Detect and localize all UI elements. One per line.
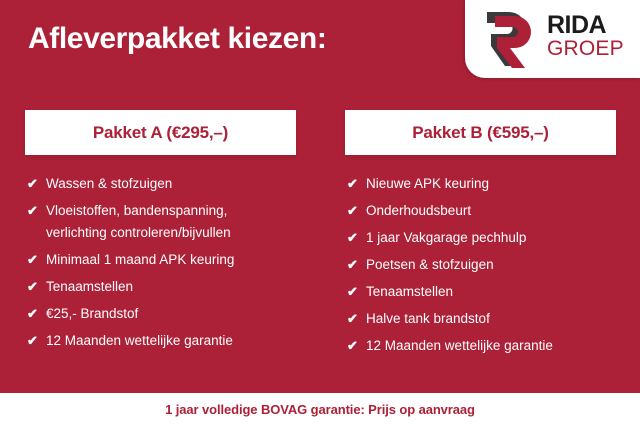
list-item-label: Nieuwe APK keuring — [366, 173, 616, 195]
list-item: ✔ Onderhoudsbeurt — [345, 200, 616, 222]
list-item: ✔ Tenaamstellen — [345, 281, 616, 303]
list-item-label: Minimaal 1 maand APK keuring — [46, 249, 296, 271]
list-item: ✔ Nieuwe APK keuring — [345, 173, 616, 195]
list-item-label: Wassen & stofzuigen — [46, 173, 296, 195]
check-icon: ✔ — [347, 200, 366, 222]
package-a-title: Pakket A (€295,–) — [93, 123, 228, 143]
check-icon: ✔ — [27, 303, 46, 325]
list-item: ✔ Halve tank brandstof — [345, 308, 616, 330]
check-icon: ✔ — [347, 308, 366, 330]
list-item: ✔ €25,- Brandstof — [25, 303, 296, 325]
list-item: ✔ 1 jaar Vakgarage pechhulp — [345, 227, 616, 249]
list-item-label: Onderhoudsbeurt — [366, 200, 616, 222]
check-icon: ✔ — [27, 200, 46, 222]
poster-header: Afleverpakket kiezen: RIDA GROEP — [0, 0, 640, 110]
list-item: ✔ 12 Maanden wettelijke garantie — [345, 335, 616, 357]
check-icon: ✔ — [347, 281, 366, 303]
package-card-a: Pakket A (€295,–) ✔ Wassen & stofzuigen … — [25, 110, 296, 357]
package-columns: Pakket A (€295,–) ✔ Wassen & stofzuigen … — [0, 110, 640, 393]
check-icon: ✔ — [27, 249, 46, 271]
package-b-feature-list: ✔ Nieuwe APK keuring ✔ Onderhoudsbeurt ✔… — [345, 155, 616, 357]
check-icon: ✔ — [347, 335, 366, 357]
check-icon: ✔ — [27, 173, 46, 195]
package-card-b: Pakket B (€595,–) ✔ Nieuwe APK keuring ✔… — [345, 110, 616, 362]
footer-banner: 1 jaar volledige BOVAG garantie: Prijs o… — [0, 393, 640, 426]
list-item-label: 12 Maanden wettelijke garantie — [366, 335, 616, 357]
list-item-label: 12 Maanden wettelijke garantie — [46, 330, 296, 352]
list-item-label: Poetsen & stofzuigen — [366, 254, 616, 276]
list-item: ✔ 12 Maanden wettelijke garantie — [25, 330, 296, 352]
check-icon: ✔ — [27, 276, 46, 298]
list-item-label: €25,- Brandstof — [46, 303, 296, 325]
package-b-header: Pakket B (€595,–) — [345, 110, 616, 155]
list-item: ✔ Wassen & stofzuigen — [25, 173, 296, 195]
delivery-package-poster: Afleverpakket kiezen: RIDA GROEP Pakket … — [0, 0, 640, 426]
list-item: ✔ Tenaamstellen — [25, 276, 296, 298]
list-item: ✔ Vloeistoffen, bandenspanning, verlicht… — [25, 200, 296, 244]
list-item-label: Halve tank brandstof — [366, 308, 616, 330]
brand-logo-card: RIDA GROEP — [465, 0, 640, 78]
footer-text: 1 jaar volledige BOVAG garantie: Prijs o… — [165, 402, 475, 417]
package-b-title: Pakket B (€595,–) — [412, 123, 548, 143]
list-item-label: Vloeistoffen, bandenspanning, verlichtin… — [46, 200, 296, 244]
check-icon: ✔ — [347, 173, 366, 195]
package-a-feature-list: ✔ Wassen & stofzuigen ✔ Vloeistoffen, ba… — [25, 155, 296, 352]
package-a-header: Pakket A (€295,–) — [25, 110, 296, 155]
list-item: ✔ Minimaal 1 maand APK keuring — [25, 249, 296, 271]
list-item-label: 1 jaar Vakgarage pechhulp — [366, 227, 616, 249]
list-item: ✔ Poetsen & stofzuigen — [345, 254, 616, 276]
check-icon: ✔ — [347, 254, 366, 276]
check-icon: ✔ — [347, 227, 366, 249]
page-title: Afleverpakket kiezen: — [28, 22, 326, 56]
rida-r-monogram-icon — [479, 8, 541, 70]
brand-subtitle: GROEP — [547, 38, 637, 60]
check-icon: ✔ — [27, 330, 46, 352]
brand-wordmark: RIDA GROEP — [547, 12, 637, 60]
list-item-label: Tenaamstellen — [46, 276, 296, 298]
list-item-label: Tenaamstellen — [366, 281, 616, 303]
brand-name: RIDA — [547, 12, 637, 38]
